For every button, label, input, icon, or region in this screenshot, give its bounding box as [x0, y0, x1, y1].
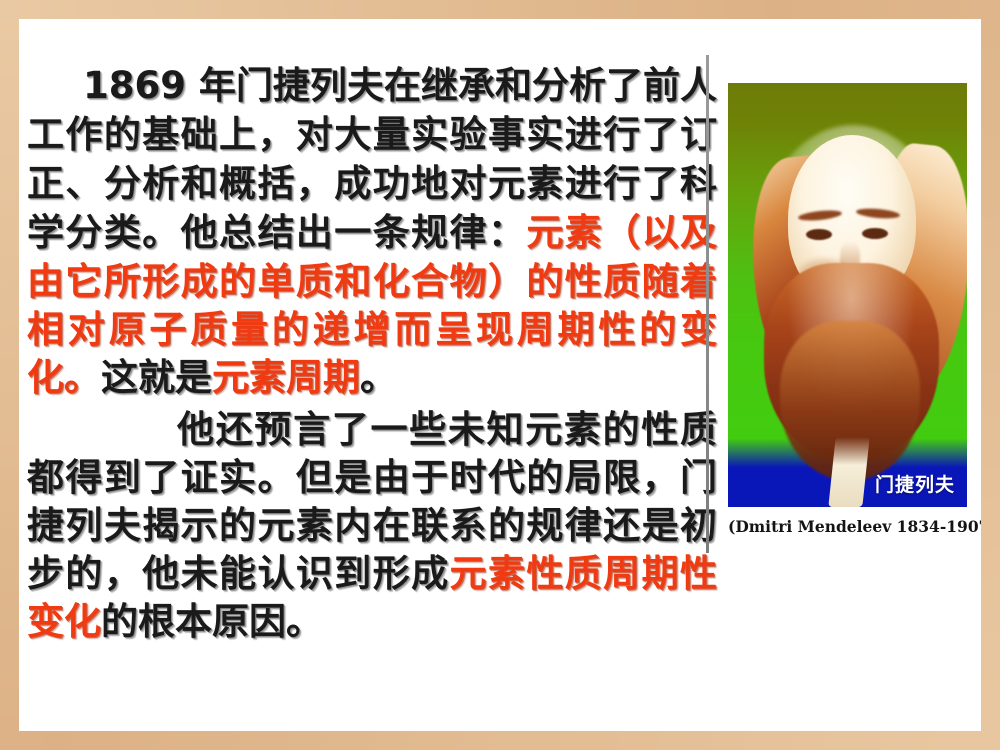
portrait-eye-right [862, 228, 888, 239]
portrait-name-tag: 门捷列夫 [875, 470, 955, 497]
paragraph-1: 1869 年门捷列夫在继承和分析了前人工作的基础上，对大量实验事实进行了订正、分… [27, 61, 717, 401]
slide-canvas: 1869 年门捷列夫在继承和分析了前人工作的基础上，对大量实验事实进行了订正、分… [19, 19, 981, 731]
paragraph-2-segment-black-2: 的根本原因。 [101, 599, 323, 643]
portrait-caption-latin: (Dmitri Mendeleev 1834-1907 [728, 517, 981, 536]
portrait-card: 门捷列夫 (Dmitri Mendeleev 1834-1907 俄国化学家) [728, 83, 967, 549]
portrait-eye-left [806, 229, 832, 240]
mendeleev-portrait-image: 门捷列夫 [728, 83, 967, 507]
vertical-divider-rule [706, 55, 709, 553]
portrait-block: 门捷列夫 (Dmitri Mendeleev 1834-1907 俄国化学家) [706, 47, 974, 559]
portrait-caption: (Dmitri Mendeleev 1834-1907 俄国化学家) [728, 516, 967, 537]
paragraph-1-segment-black-2: 这就是 [101, 355, 212, 399]
paragraph-2: 他还预言了一些未知元素的性质都得到了证实。但是由于时代的局限，门捷列夫揭示的元素… [27, 405, 717, 645]
slide-body-text: 1869 年门捷列夫在继承和分析了前人工作的基础上，对大量实验事实进行了订正、分… [27, 61, 717, 645]
slide-frame: 1869 年门捷列夫在继承和分析了前人工作的基础上，对大量实验事实进行了订正、分… [0, 0, 1000, 750]
paragraph-1-segment-black-3: 。 [360, 355, 397, 399]
paragraph-1-segment-red-2: 元素周期 [212, 355, 360, 399]
